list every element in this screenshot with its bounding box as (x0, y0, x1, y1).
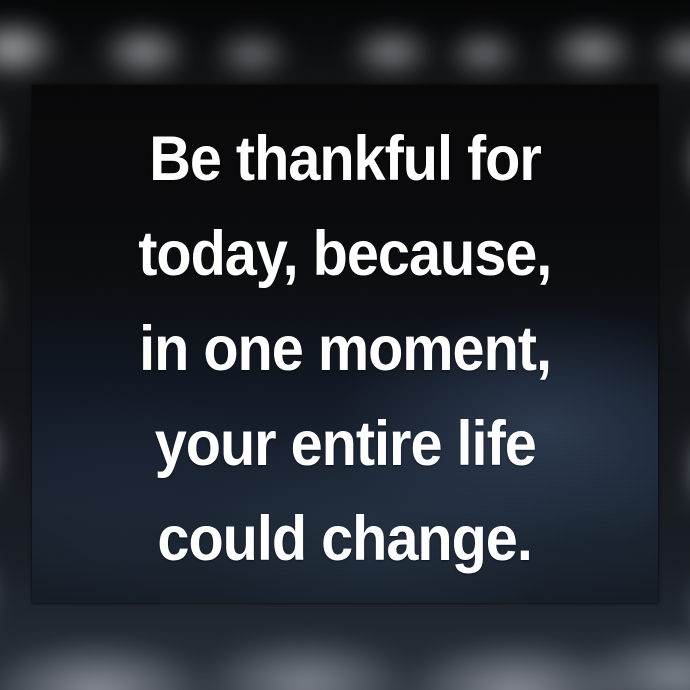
quote-text-block: Be thankful for today, because, in one m… (32, 85, 658, 603)
quote-line-2: today, because, (138, 207, 551, 302)
quote-line-1: Be thankful for (149, 112, 541, 207)
quote-line-4: your entire life (154, 397, 535, 492)
quote-panel: Be thankful for today, because, in one m… (32, 85, 658, 603)
quote-line-5: could change. (158, 492, 532, 587)
quote-line-3: in one moment, (139, 302, 551, 397)
quote-card: Be thankful for today, because, in one m… (0, 0, 690, 690)
